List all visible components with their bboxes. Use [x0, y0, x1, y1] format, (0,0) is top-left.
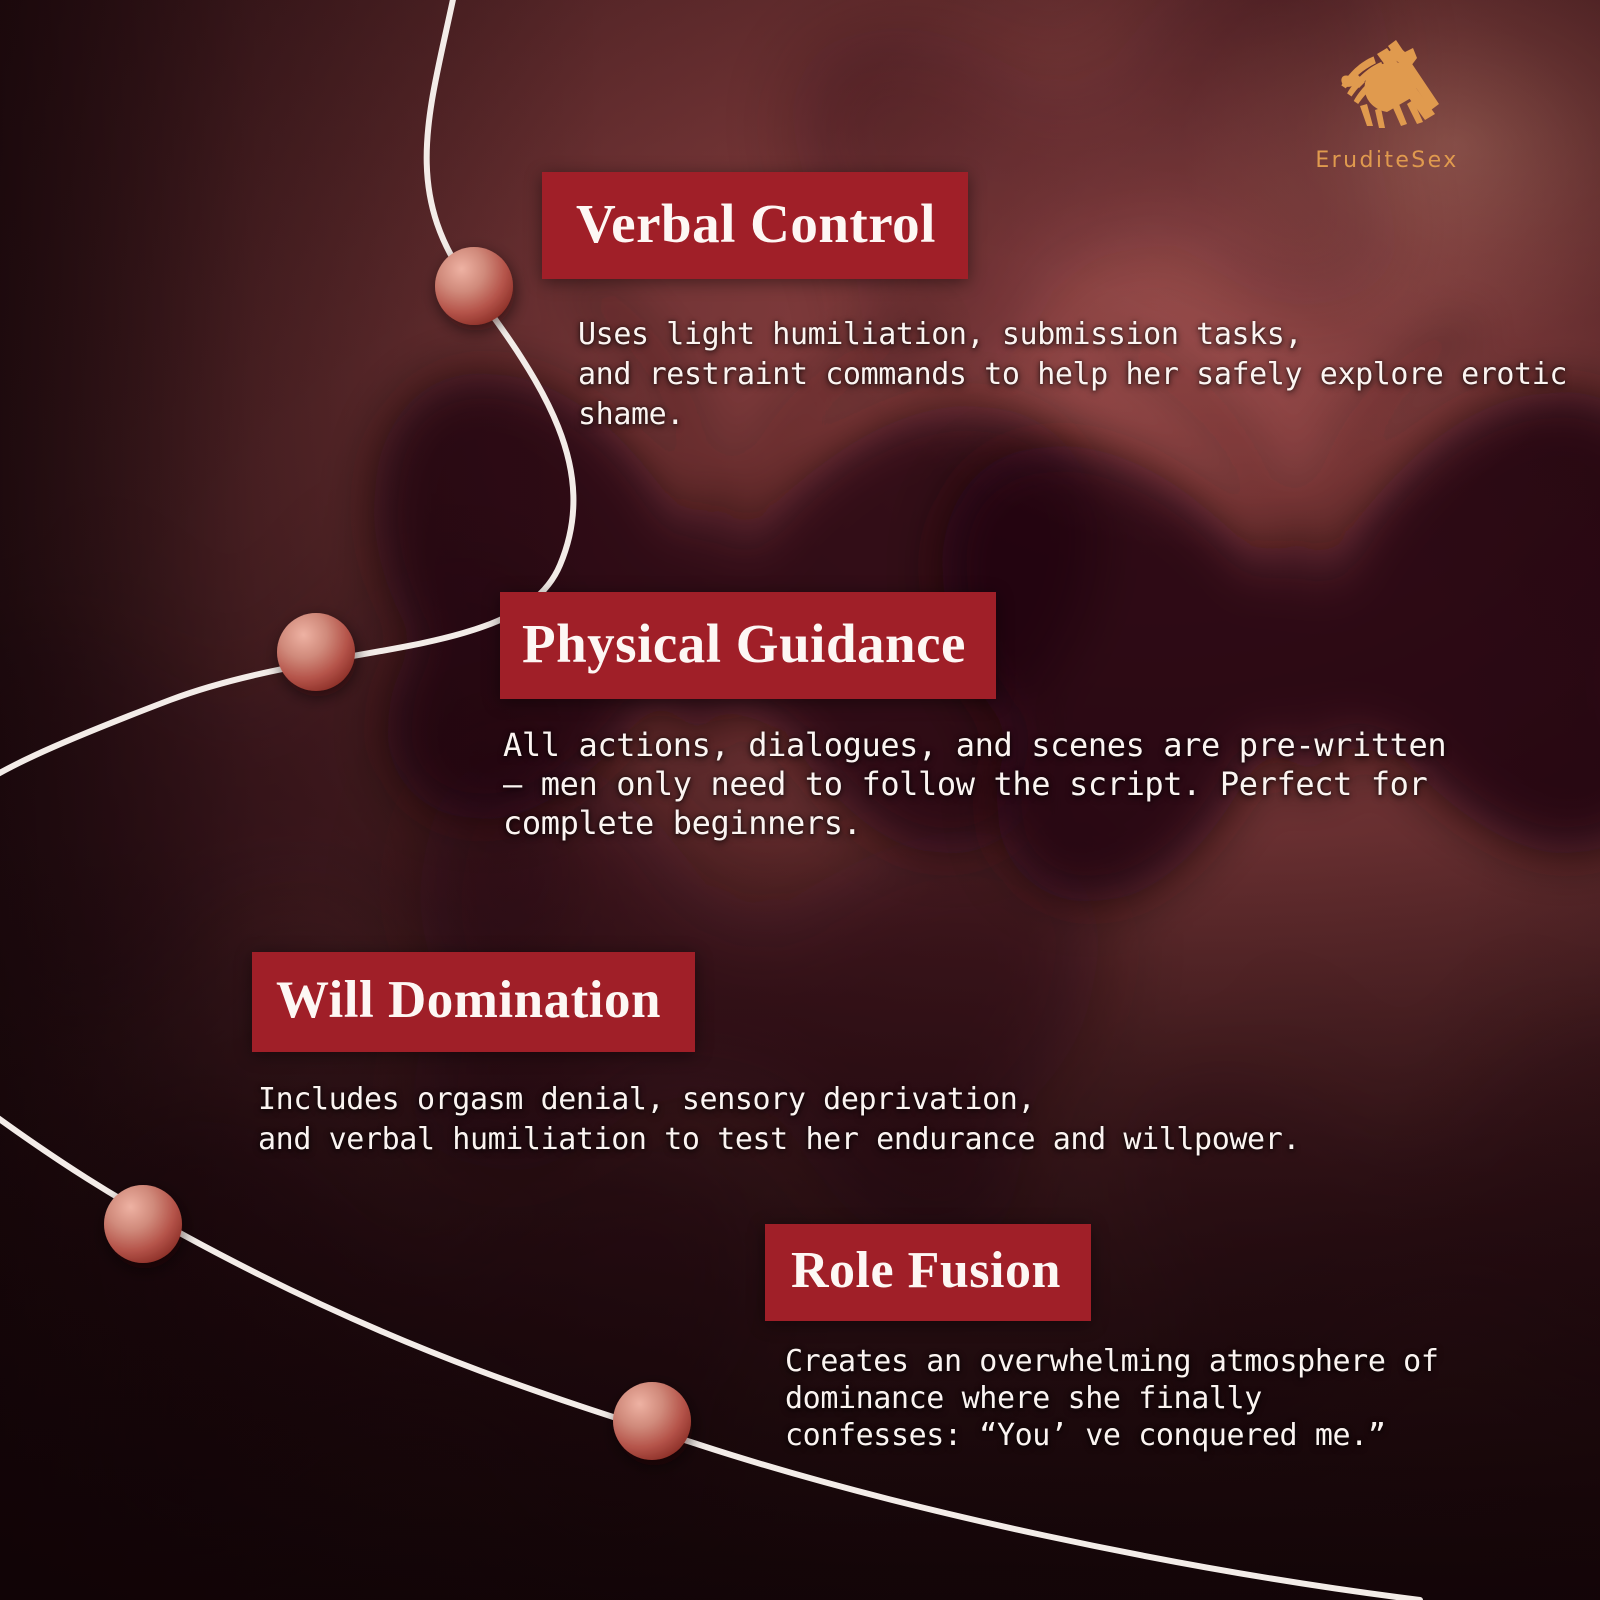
section-card-2: Physical Guidance All actions, dialogues… — [500, 592, 1446, 843]
timeline-node-1[interactable] — [435, 247, 513, 325]
timeline-node-2[interactable] — [277, 613, 355, 691]
curve-segment-upper — [0, 0, 573, 800]
section-card-4: Role Fusion Creates an overwhelming atmo… — [765, 1224, 1438, 1455]
section-body-4: Creates an overwhelming atmosphere of do… — [785, 1343, 1438, 1455]
section-card-1: Verbal Control Uses light humiliation, s… — [542, 172, 1600, 436]
brand-logo[interactable]: EruditeSex — [1292, 26, 1482, 173]
brand-wordmark: EruditeSex — [1292, 148, 1482, 173]
section-title-3: Will Domination — [252, 952, 695, 1052]
infographic-canvas: EruditeSex Verbal Control Uses light hum… — [0, 0, 1600, 1600]
section-body-1: Uses light humiliation, submission tasks… — [578, 315, 1600, 436]
section-body-3: Includes orgasm denial, sensory deprivat… — [258, 1080, 1300, 1159]
section-title-1: Verbal Control — [542, 172, 968, 279]
section-title-4: Role Fusion — [765, 1224, 1091, 1321]
timeline-node-3[interactable] — [104, 1185, 182, 1263]
timeline-node-4[interactable] — [613, 1382, 691, 1460]
section-title-2: Physical Guidance — [500, 592, 996, 699]
section-body-2: All actions, dialogues, and scenes are p… — [503, 726, 1446, 843]
section-card-3: Will Domination Includes orgasm denial, … — [252, 952, 1300, 1159]
winged-lion-icon — [1292, 26, 1482, 144]
